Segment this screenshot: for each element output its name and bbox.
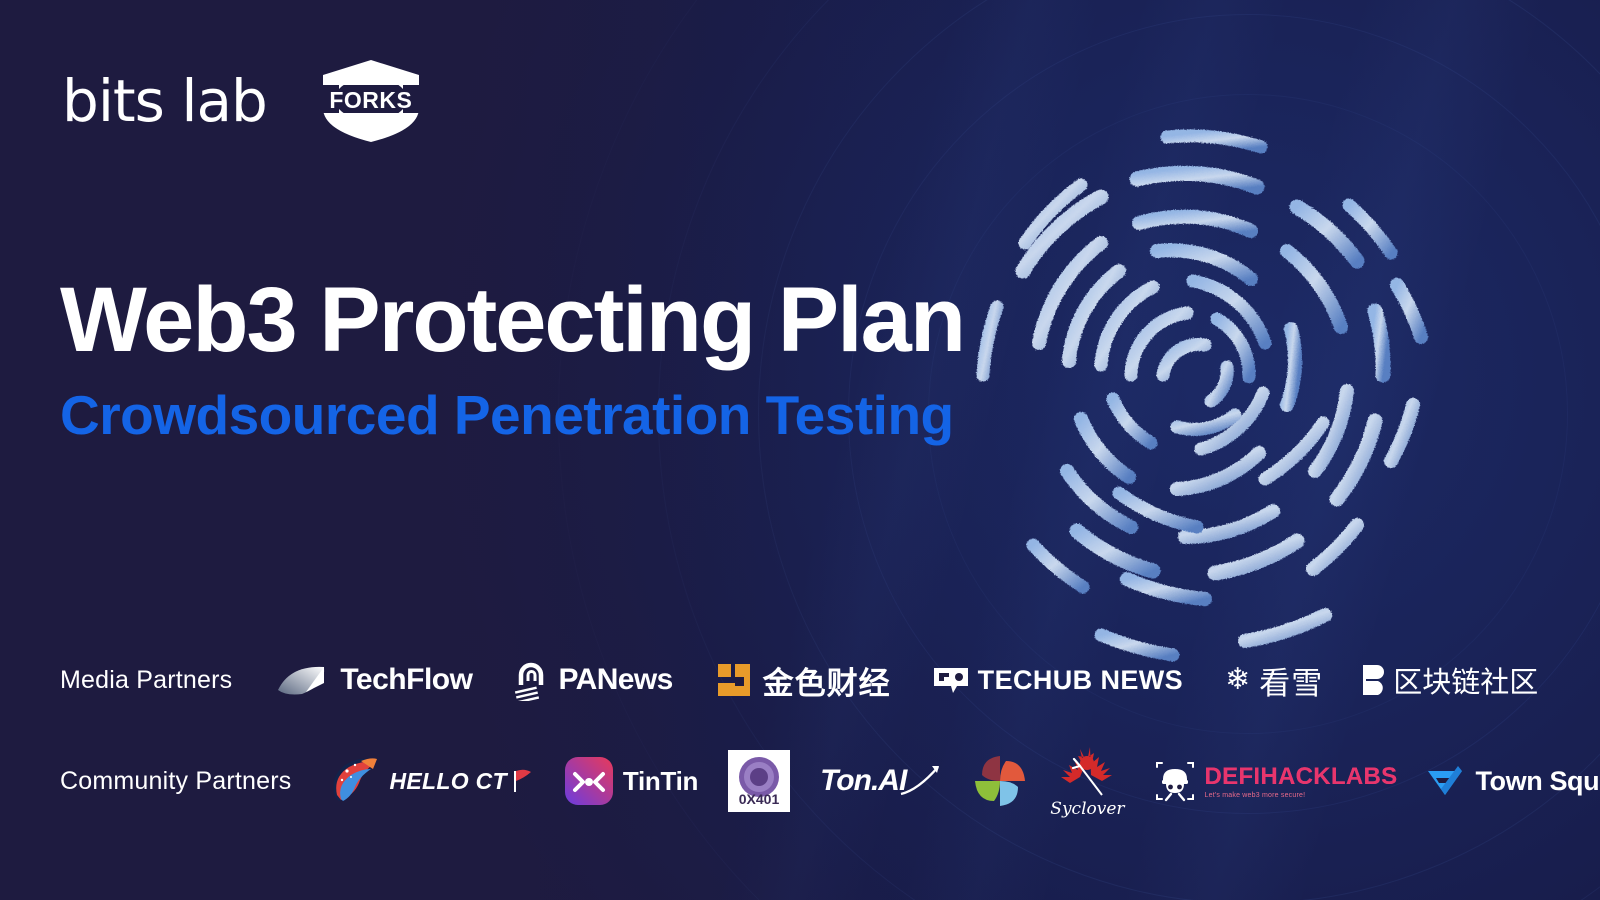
partner-logo-pinwheel[interactable] — [972, 753, 1028, 809]
partner-name: PANews — [558, 663, 672, 697]
partner-logo-techub[interactable]: TECHUB NEWS — [933, 665, 1183, 696]
page-subtitle: Crowdsourced Penetration Testing — [60, 385, 964, 446]
partner-name: Ton.AI — [820, 764, 906, 798]
four-color-pinwheel-icon — [972, 753, 1028, 809]
forks-wordmark: FORKS — [319, 87, 423, 114]
media-partners-label: Media Partners — [60, 666, 232, 695]
forks-logo[interactable]: FORKS — [319, 58, 423, 144]
partner-tagline: Let's make web3 more secure! — [1205, 792, 1306, 799]
partner-logo-kanxue[interactable]: ❄ 看雪 — [1225, 658, 1323, 703]
media-partner-logos: TechFlow PANews 金色财经 — [232, 658, 1538, 703]
red-flag-icon — [511, 768, 533, 794]
community-partners-row: Community Partners HELLO CT — [60, 748, 1600, 814]
partner-logo-defihacklabs[interactable]: DEFIHACKLABS Let's make web3 more secure… — [1153, 759, 1398, 803]
dog-face-icon — [565, 757, 613, 805]
hacker-skull-icon — [1153, 759, 1197, 803]
partner-logo-tonai[interactable]: Ton.AI — [820, 764, 940, 798]
community-partner-logos: HELLO CT TinTin — [291, 743, 1600, 819]
snowflake-icon: ❄ — [1225, 665, 1250, 695]
page-title: Web3 Protecting Plan — [60, 272, 964, 369]
partner-name: DEFIHACKLABS — [1205, 763, 1398, 791]
magnet-lines-icon — [514, 659, 548, 701]
partner-logo-techflow[interactable]: TechFlow — [276, 663, 472, 697]
swoosh-icon — [900, 764, 940, 798]
media-partners-row: Media Partners TechFlow — [60, 652, 1538, 708]
partner-name: TechFlow — [340, 663, 472, 697]
partner-logo-helloct[interactable]: HELLO CT — [327, 755, 532, 807]
partner-logo-panews[interactable]: PANews — [514, 659, 672, 701]
partner-name: Syclover — [1050, 799, 1124, 819]
partner-name: TECHUB NEWS — [978, 665, 1183, 696]
community-partners-label: Community Partners — [60, 767, 291, 796]
partner-name: 区块链社区 — [1393, 659, 1538, 701]
partner-logo-0x401[interactable]: 0X401 — [728, 750, 790, 812]
partner-logo-blockchain-community[interactable]: 区块链社区 — [1363, 659, 1538, 701]
header-logo-row: bits lab FORKS — [62, 58, 423, 144]
comet-flag-icon — [327, 755, 381, 807]
partner-logo-syclover[interactable]: Syclover — [1050, 743, 1124, 819]
partner-name: HELLO CT — [389, 768, 506, 795]
bitslab-logo[interactable]: bits lab — [62, 72, 267, 130]
red-maple-icon — [1058, 743, 1116, 797]
hero-headline-block: Web3 Protecting Plan Crowdsourced Penetr… — [60, 272, 964, 445]
partner-logo-tintin[interactable]: TinTin — [565, 757, 698, 805]
blue-diamond-icon — [1425, 762, 1465, 800]
orange-square-icon — [717, 663, 751, 697]
svg-text:0X401: 0X401 — [739, 791, 780, 807]
partner-name: 看雪 — [1259, 658, 1323, 703]
partner-name: TinTin — [623, 766, 698, 797]
partner-name: Town Square — [1475, 766, 1600, 797]
partner-logo-townsquare[interactable]: Town Square — [1425, 762, 1600, 800]
purple-emblem-icon: 0X401 — [728, 750, 790, 812]
b-letter-icon — [1363, 663, 1389, 697]
partner-logo-jinse[interactable]: 金色财经 — [717, 658, 891, 703]
partner-name: 金色财经 — [763, 658, 891, 703]
fingerprint-graphic — [905, 75, 1480, 665]
chat-bracket-icon — [933, 666, 969, 694]
leaf-lens-icon — [276, 663, 328, 697]
